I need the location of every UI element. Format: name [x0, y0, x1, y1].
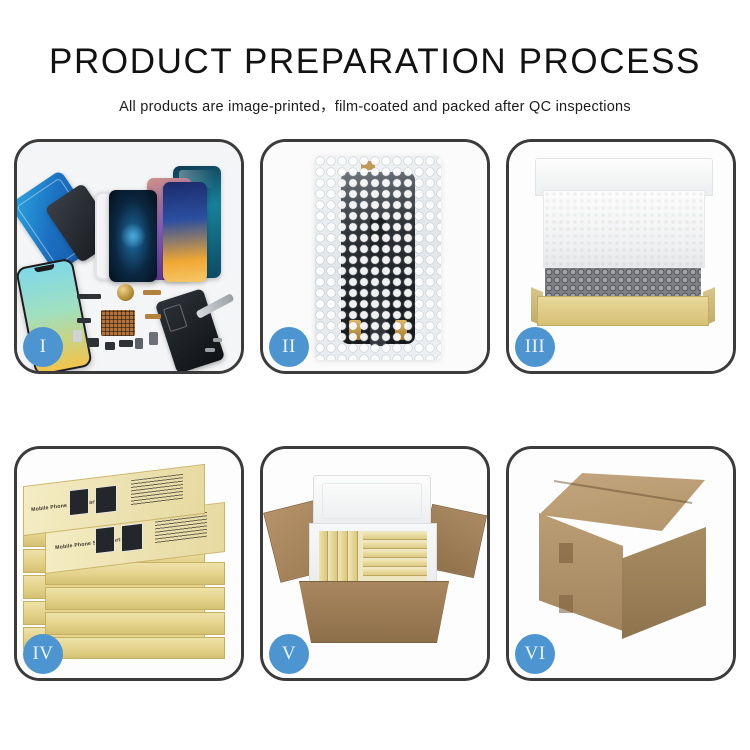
header: PRODUCT PREPARATION PROCESS All products…: [0, 0, 750, 116]
step-numeral: V: [282, 643, 296, 665]
step-badge-5: V: [269, 634, 309, 674]
packed-yellow-box: [363, 569, 427, 576]
carton-left-face: [539, 513, 623, 631]
part-chip: [145, 314, 161, 319]
part-chip: [149, 332, 158, 345]
vibration-motor-icon: [117, 284, 134, 301]
box-front-panel-icon: [537, 296, 709, 326]
stacked-box: [45, 637, 225, 659]
packed-yellow-box: [329, 531, 338, 581]
packed-yellow-box: [349, 531, 358, 581]
step-numeral: I: [40, 336, 47, 358]
part-chip: [213, 338, 222, 342]
step-card-4: Mobile Phone Spare Parts Mobile Phone Sp…: [14, 446, 244, 681]
stacked-box: [45, 587, 225, 610]
step-card-6: VI: [506, 446, 736, 681]
page-title: PRODUCT PREPARATION PROCESS: [0, 0, 750, 79]
part-chip: [143, 290, 161, 295]
carton-right-face: [622, 527, 706, 639]
step-card-3: III: [506, 139, 736, 374]
part-chip: [87, 338, 99, 347]
step-card-2: II: [260, 139, 490, 374]
part-chip: [77, 318, 91, 323]
process-steps-grid: I II: [14, 139, 736, 681]
step-numeral: III: [525, 336, 545, 358]
step-badge-3: III: [515, 327, 555, 367]
carton-tape-tab: [559, 595, 573, 613]
step-badge-4: IV: [23, 634, 63, 674]
step-card-1: I: [14, 139, 244, 374]
bubble-wrap-bag-icon: [315, 156, 441, 360]
foam-sheet-icon: [543, 190, 705, 268]
packed-boxes-area: [319, 531, 427, 581]
part-chip: [105, 342, 115, 350]
step-numeral: VI: [524, 643, 545, 665]
box-label-phone-image: [121, 523, 143, 553]
step-card-5: V: [260, 446, 490, 681]
bubble-texture-icon: [315, 156, 441, 360]
part-chip: [73, 330, 82, 342]
box-label-phone-image: [69, 488, 89, 516]
packed-yellow-box: [363, 533, 427, 540]
box-label-phone-image: [95, 485, 117, 515]
product-preparation-process-infographic: PRODUCT PREPARATION PROCESS All products…: [0, 0, 750, 750]
foam-cooler-lid-icon: [313, 475, 431, 527]
step-numeral: IV: [32, 643, 53, 665]
orange-phone-screen-icon: [163, 182, 207, 282]
packed-yellow-box: [363, 560, 427, 567]
packed-yellow-box: [363, 542, 427, 549]
page-subtitle: All products are image-printed，film-coat…: [0, 79, 750, 116]
step-badge-2: II: [269, 327, 309, 367]
main-dark-screen-icon: [109, 190, 157, 282]
packed-yellow-box: [363, 551, 427, 558]
stacked-box: [45, 612, 225, 635]
bubble-wrapped-units-icon: [545, 268, 701, 298]
carton-tape-tab: [559, 543, 573, 563]
part-chip: [77, 294, 101, 299]
logic-board-icon: [101, 310, 135, 336]
box-label-phone-image: [95, 526, 115, 554]
step-badge-1: I: [23, 327, 63, 367]
part-chip: [135, 338, 143, 349]
packed-yellow-box: [339, 531, 348, 581]
packed-yellow-box: [319, 531, 328, 581]
step-badge-6: VI: [515, 634, 555, 674]
part-chip: [119, 340, 133, 347]
step-numeral: II: [282, 336, 296, 358]
part-chip: [205, 348, 215, 352]
sealed-carton-icon: [523, 473, 721, 637]
carton-body-icon: [299, 581, 449, 643]
